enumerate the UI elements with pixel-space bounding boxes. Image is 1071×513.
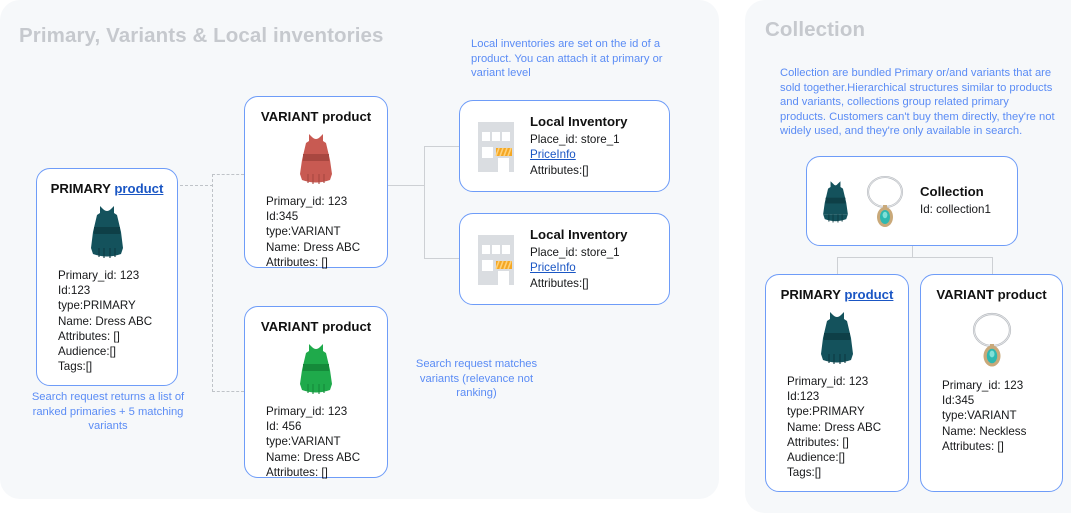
card-variant-necklace-title: VARIANT product	[921, 287, 1062, 302]
note-collection: Collection are bundled Primary or/and va…	[780, 66, 1057, 139]
card-primary-left-title: PRIMARY product	[37, 181, 177, 196]
connector-inventory-branch-bottom	[424, 258, 459, 259]
field: Primary_id: 123	[58, 268, 177, 283]
red-dress-icon	[245, 130, 387, 186]
price-info-link[interactable]: PriceInfo	[530, 261, 576, 274]
product-link[interactable]: product	[114, 181, 163, 196]
card-primary-right-title: PRIMARY product	[766, 287, 908, 302]
field: Tags:[]	[787, 465, 908, 480]
note-local-inventory: Local inventories are set on the id of a…	[471, 37, 667, 81]
green-dress-icon	[245, 340, 387, 396]
panel-left-title: Primary, Variants & Local inventories	[19, 24, 384, 48]
card-primary-left-fields: Primary_id: 123 Id:123 type:PRIMARY Name…	[37, 268, 177, 374]
card-primary-left-title-strong: PRIMARY	[51, 181, 111, 196]
field: Id: 456	[266, 419, 387, 434]
field: Primary_id: 123	[942, 378, 1062, 393]
card-variant-product-red[interactable]: VARIANT product Primary_id: 123 Id:345 t…	[244, 96, 388, 268]
price-info-link[interactable]: PriceInfo	[530, 148, 576, 161]
necklace-icon	[921, 308, 1062, 370]
product-link[interactable]: product	[844, 287, 893, 302]
card-variant-product-necklace[interactable]: VARIANT product Primary_id: 123 Id:345 t…	[920, 274, 1063, 492]
field: Name: Dress ABC	[266, 240, 387, 255]
connector-variants-branch-bottom	[212, 391, 244, 392]
teal-dress-icon	[37, 202, 177, 260]
store-icon	[472, 231, 520, 287]
field: Name: Dress ABC	[787, 420, 908, 435]
card-primary-product-left[interactable]: PRIMARY product Primary_id: 123 Id:123 t…	[36, 168, 178, 386]
field: Attributes: []	[942, 439, 1062, 454]
field: Tags:[]	[58, 359, 177, 374]
connector-variant-to-inventory-spine	[424, 146, 425, 258]
field: type:PRIMARY	[787, 404, 908, 419]
attributes-value: Attributes:[]	[530, 163, 657, 178]
field: Id:123	[58, 283, 177, 298]
field: Name: Dress ABC	[266, 450, 387, 465]
place-id-value: Place_id: store_1	[530, 132, 657, 147]
field: Audience:[]	[58, 344, 177, 359]
field: Name: Dress ABC	[58, 314, 177, 329]
teal-dress-icon	[819, 173, 852, 229]
connector-collection-branch-left	[837, 257, 838, 274]
field: type:VARIANT	[266, 434, 387, 449]
field: Name: Neckless	[942, 424, 1062, 439]
card-primary-right-title-strong: PRIMARY	[781, 287, 841, 302]
field: Id:123	[787, 389, 908, 404]
card-variant-green-fields: Primary_id: 123 Id: 456 type:VARIANT Nam…	[245, 404, 387, 480]
card-local-inventory-2-fields: Place_id: store_1 PriceInfo Attributes:[…	[530, 245, 657, 291]
card-primary-product-right[interactable]: PRIMARY product Primary_id: 123 Id:123 t…	[765, 274, 909, 492]
connector-variant-to-inventory-stem	[388, 185, 425, 186]
card-local-inventory-1-title: Local Inventory	[530, 114, 657, 129]
field: type:VARIANT	[266, 224, 387, 239]
card-variant-green-title: VARIANT product	[245, 319, 387, 334]
card-local-inventory-1[interactable]: Local Inventory Place_id: store_1 PriceI…	[459, 100, 670, 192]
field: Attributes: []	[58, 329, 177, 344]
attributes-value: Attributes:[]	[530, 276, 657, 291]
card-collection-title: Collection	[920, 184, 1005, 199]
card-variant-red-fields: Primary_id: 123 Id:345 type:VARIANT Name…	[245, 194, 387, 270]
card-variant-product-green[interactable]: VARIANT product Primary_id: 123 Id: 456 …	[244, 306, 388, 478]
field: Primary_id: 123	[266, 404, 387, 419]
connector-inventory-branch-top	[424, 146, 459, 147]
connector-variants-branch-top	[212, 174, 244, 175]
field: Attributes: []	[787, 435, 908, 450]
field: Attributes: []	[266, 465, 387, 480]
card-variant-red-title: VARIANT product	[245, 109, 387, 124]
connector-collection-spine	[837, 257, 993, 258]
card-collection[interactable]: Collection Id: collection1	[806, 156, 1018, 246]
card-local-inventory-2-title: Local Inventory	[530, 227, 657, 242]
collection-id-value: Id: collection1	[920, 202, 1005, 217]
card-local-inventory-1-fields: Place_id: store_1 PriceInfo Attributes:[…	[530, 132, 657, 178]
field: Attributes: []	[266, 255, 387, 270]
field: type:PRIMARY	[58, 298, 177, 313]
field: Primary_id: 123	[787, 374, 908, 389]
necklace-icon	[862, 172, 908, 230]
connector-primary-to-variants-spine	[212, 174, 213, 392]
card-variant-necklace-fields: Primary_id: 123 Id:345 type:VARIANT Name…	[921, 378, 1062, 454]
connector-collection-branch-right	[992, 257, 993, 274]
card-local-inventory-2[interactable]: Local Inventory Place_id: store_1 PriceI…	[459, 213, 670, 305]
field: Id:345	[266, 209, 387, 224]
connector-primary-to-variants-stem	[180, 185, 213, 186]
field: Primary_id: 123	[266, 194, 387, 209]
field: Audience:[]	[787, 450, 908, 465]
store-icon	[472, 118, 520, 174]
panel-right-title: Collection	[765, 18, 865, 42]
place-id-value: Place_id: store_1	[530, 245, 657, 260]
teal-dress-icon	[766, 308, 908, 366]
note-search-primary: Search request returns a list of ranked …	[22, 390, 194, 434]
card-primary-right-fields: Primary_id: 123 Id:123 type:PRIMARY Name…	[766, 374, 908, 480]
note-search-variant: Search request matches variants (relevan…	[399, 357, 554, 401]
field: Id:345	[942, 393, 1062, 408]
field: type:VARIANT	[942, 408, 1062, 423]
card-collection-fields: Id: collection1	[920, 202, 1005, 217]
